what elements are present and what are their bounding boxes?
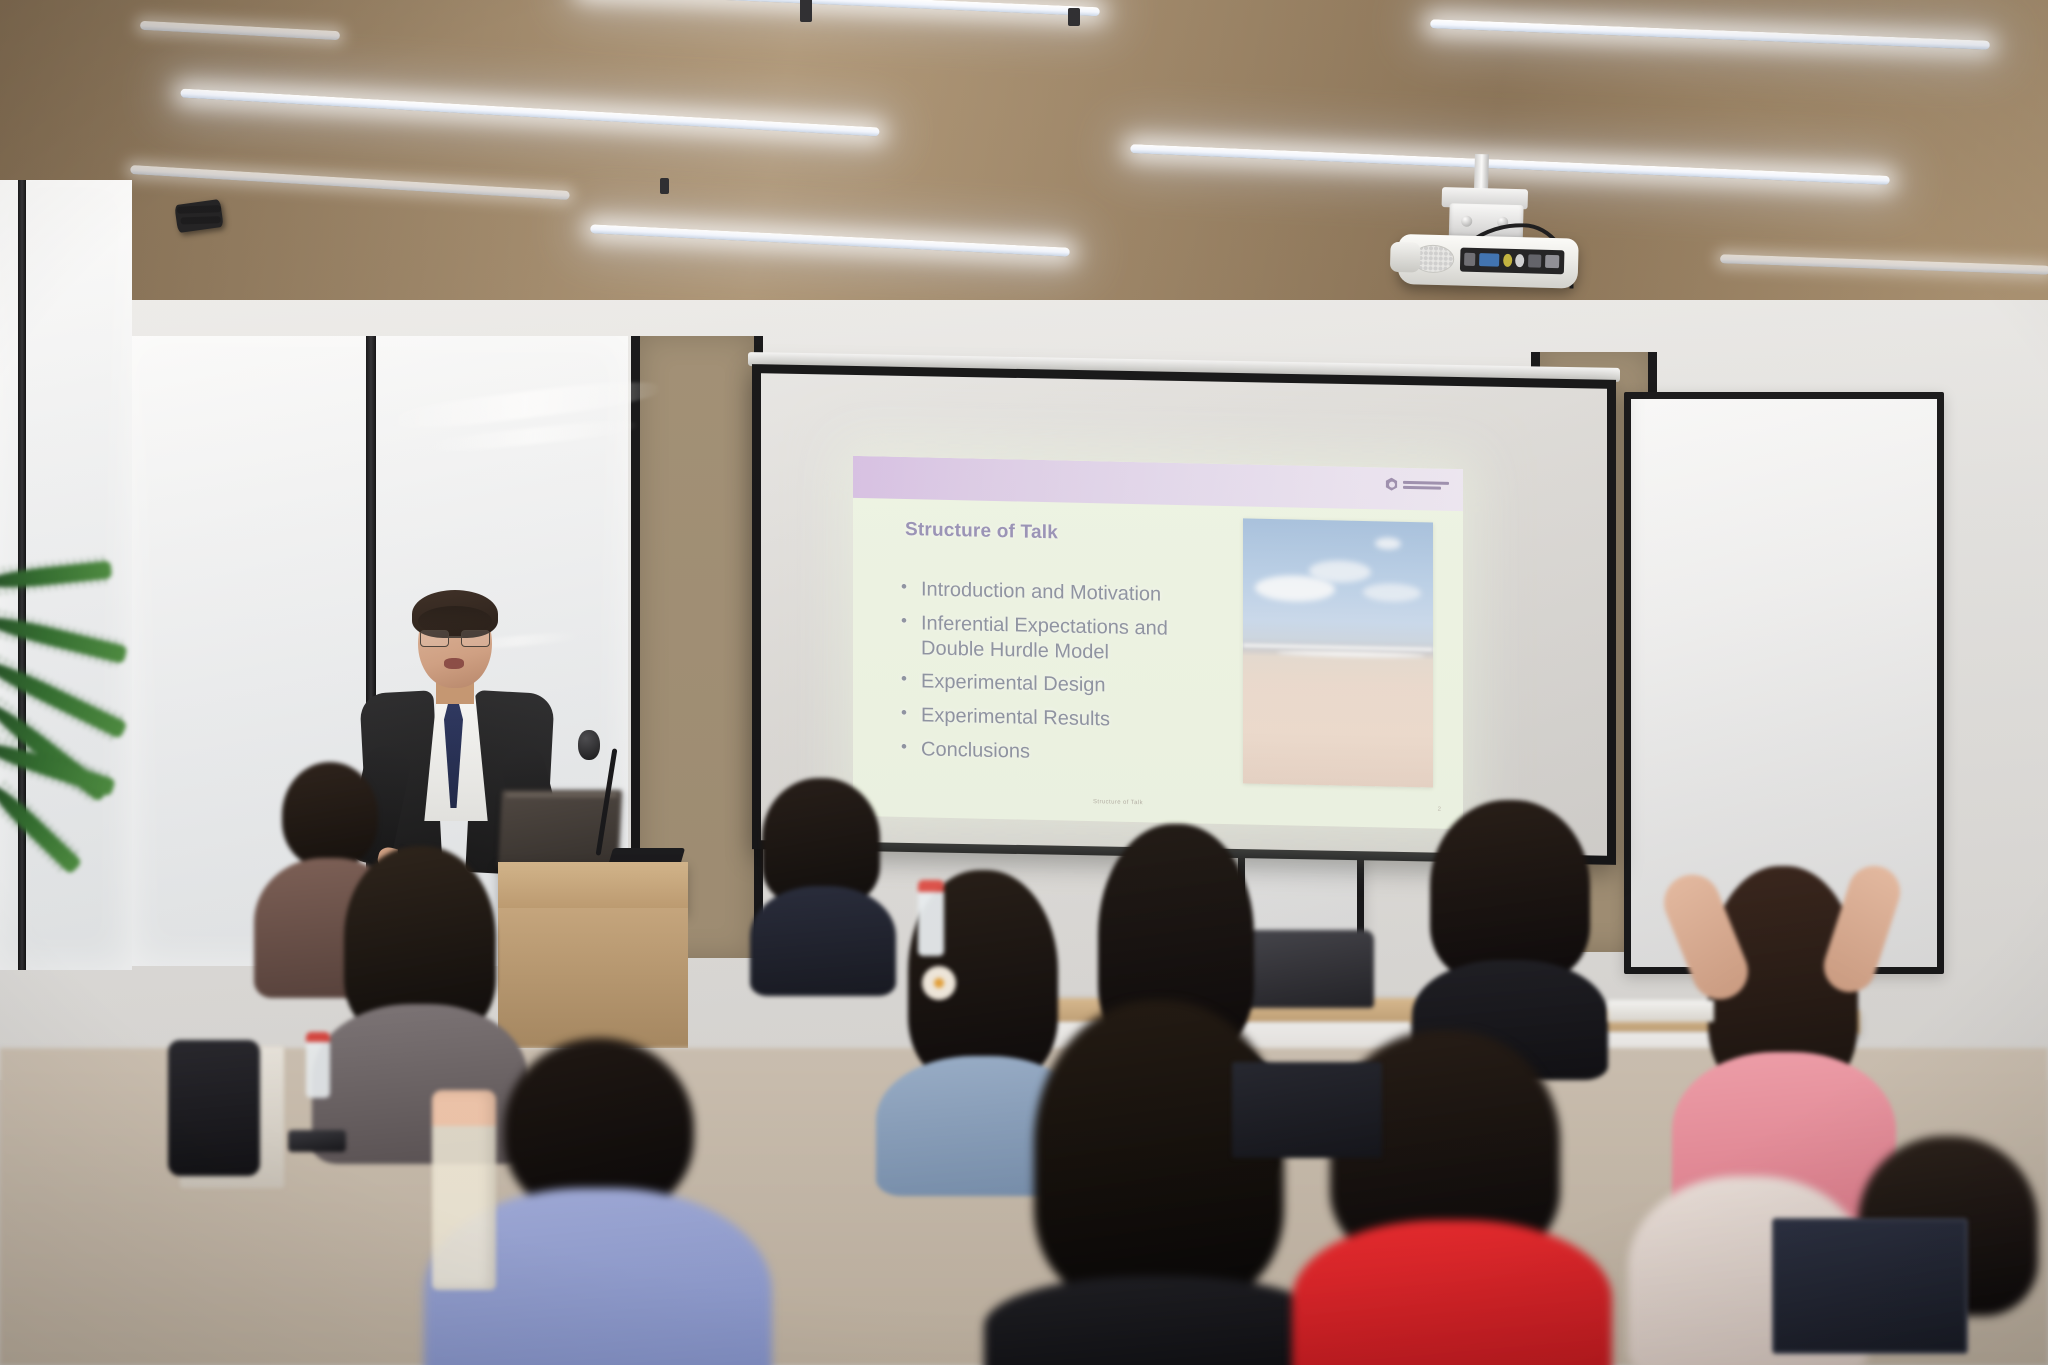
slide-footer-text: Structure of Talk [1093,799,1143,806]
ceiling-shading [0,0,2048,330]
audience-member [1420,800,1600,1060]
projector-port-panel [1460,248,1565,275]
cloud-shape [1375,537,1401,550]
port-vga-icon [1479,253,1499,267]
torso [750,886,896,996]
hair-flower-clip [922,966,956,1000]
torso [1292,1220,1612,1365]
potted-palm-plant [0,590,170,860]
port-rca-icon [1515,254,1524,267]
port-lan-icon [1528,254,1541,267]
microphone-head-icon [578,730,600,760]
torso [984,1276,1334,1365]
podium-top [498,862,688,914]
list-item: Inferential Expectations and Double Hurd… [897,611,1227,668]
tumbler-bottle [432,1090,496,1290]
university-crest-icon [1385,477,1398,490]
port-usb-icon [1464,253,1475,266]
slide-photo-beach [1243,518,1433,787]
horizon-line [1243,643,1433,651]
smartphone [288,1130,346,1152]
ceiling-mount-stub [800,0,812,22]
university-wordmark [1403,480,1449,489]
student-chair [1244,930,1374,1008]
water-bottle [306,1032,330,1098]
laptop [1232,1062,1382,1158]
audience-member [994,1000,1324,1365]
eyeglasses-icon [420,630,490,645]
ceiling-mount-stub [1068,8,1080,26]
list-item: Conclusions [897,737,1227,769]
port-rca-icon [1503,254,1512,267]
list-item: Experimental Design [897,669,1227,701]
hair [1430,800,1590,980]
backpack [168,1040,260,1176]
surf-line [1277,650,1425,658]
lecture-room-photo: Structure of Talk Introduction and Motiv… [0,0,2048,1365]
list-item: Introduction and Motivation [897,577,1227,609]
projected-slide: Structure of Talk Introduction and Motiv… [853,456,1463,829]
projector-body [1398,234,1579,289]
wooden-slat-ceiling [0,0,2048,330]
notebook-stack [1608,1000,1714,1022]
slide-title: Structure of Talk [905,519,1058,544]
audience-member [756,778,886,988]
ceiling-mount-stub [660,178,669,194]
cloud-shape [1363,583,1421,602]
port-hdmi-icon [1545,255,1559,268]
podium-front [498,908,688,1048]
projector-lens-icon [1390,242,1421,273]
bracket-bolt-icon [1461,216,1472,227]
water-bottle [918,880,944,956]
laptop [1772,1218,1968,1354]
presenter-mouth [444,658,464,669]
palm-frond [0,610,128,664]
list-item: Experimental Results [897,703,1227,735]
university-logo [1385,477,1449,491]
slide-header-band [853,456,1463,511]
slide-bullet-list: Introduction and Motivation Inferential … [897,577,1227,778]
screen-surface: Structure of Talk Introduction and Motiv… [761,373,1607,856]
